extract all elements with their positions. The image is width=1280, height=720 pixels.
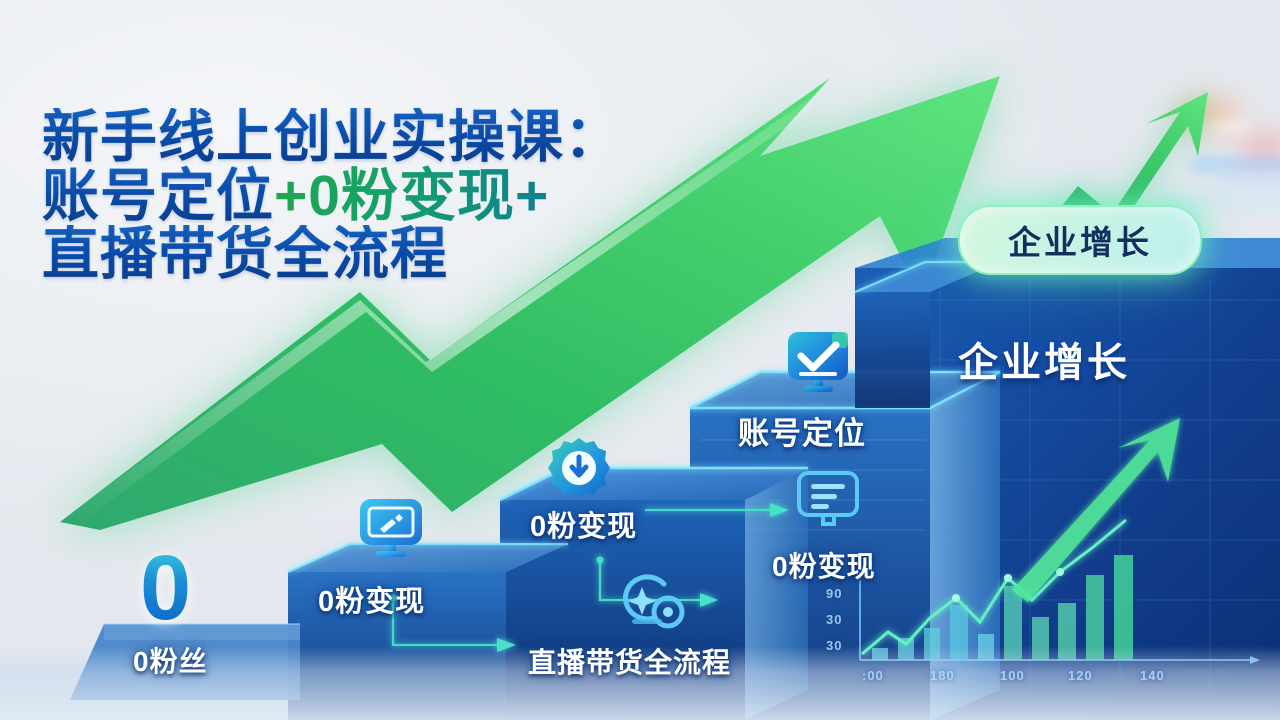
chart-xtick-1: 180 [930,668,955,683]
callout-label-monetize: 0粉变现 [772,545,876,585]
monitor-check-icon [786,330,854,396]
badge-label: 企业增长 [1008,216,1152,264]
title-line-2: 账号定位+0粉变现+ [42,167,622,226]
step-label-step-4: 账号定位 [738,408,866,453]
title-line-2-green: +0粉变现+ [274,164,549,228]
step-label-step-3: 0粉变现 [530,503,637,545]
chart-xtick-3: 120 [1068,668,1093,683]
chart-xtick-2: 100 [1000,668,1025,683]
big-zero-numeral: 0 [140,542,191,634]
poster-title: 新手线上创业实操课： 账号定位+0粉变现+ 直播带货全流程 [42,108,622,284]
callout-label-live: 直播带货全流程 [528,641,731,681]
gear-download-icon [548,437,610,499]
title-line-3: 直播带货全流程 [42,225,622,284]
monitor-edit-icon [358,497,424,559]
poster-canvas: 新手线上创业实操课： 账号定位+0粉变现+ 直播带货全流程 [0,0,1280,720]
dashboard-title: 企业增长 [958,330,1130,388]
chart-xtick-0: :00 [862,668,884,683]
title-line-1: 新手线上创业实操课： [42,108,622,167]
step-label-step-2: 0粉变现 [318,578,425,620]
live-camera-icon [616,570,688,634]
chart-ytick-1: 30 [826,612,842,627]
chart-xtick-4: 140 [1140,668,1165,683]
title-line-2-blue: 账号定位 [42,164,274,228]
step-label-0粉丝: 0粉丝 [133,640,208,680]
document-lines-icon [795,470,865,534]
chart-ytick-2: 30 [826,638,842,653]
chart-ytick-0: 90 [826,586,842,601]
status-badge-growth[interactable]: 企业增长 [958,205,1202,275]
